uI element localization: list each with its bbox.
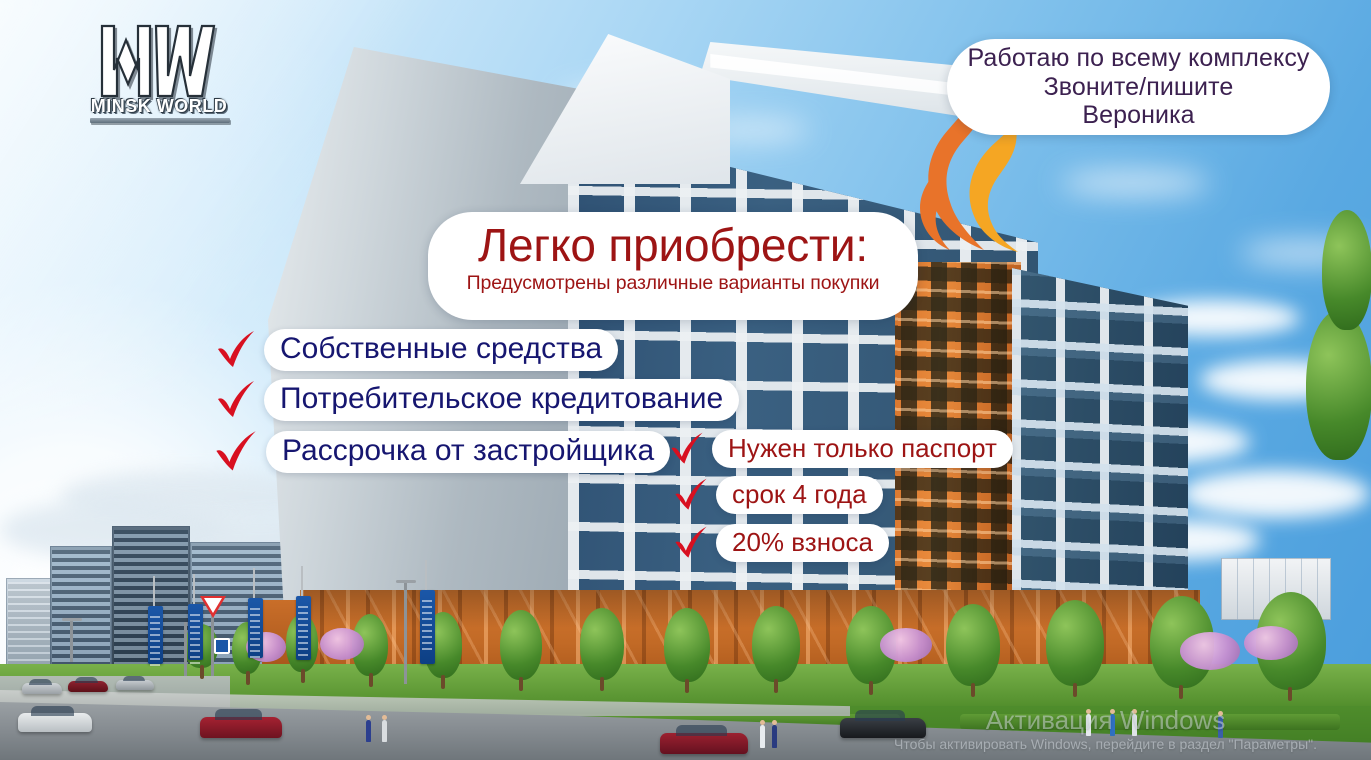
pedestrian (366, 720, 371, 742)
contact-bubble[interactable]: Работаю по всему комплексу Звоните/пишит… (947, 39, 1330, 135)
installment-term-label: срок 4 года (716, 476, 883, 514)
installment-term-label: Нужен только паспорт (712, 430, 1013, 468)
car (22, 683, 62, 694)
minsk-world-logo: MINSK WORLD (92, 18, 220, 118)
car (200, 717, 282, 738)
pedestrian (1218, 716, 1223, 738)
cloud (1180, 470, 1370, 518)
car (68, 681, 108, 692)
tree (580, 608, 624, 680)
logo-wordmark: MINSK WORLD (86, 96, 232, 117)
contact-line-3: Вероника (967, 101, 1309, 130)
check-icon (214, 378, 258, 422)
hedge (960, 714, 1340, 730)
car (116, 680, 154, 690)
logo-underline (90, 118, 230, 123)
installment-term-row[interactable]: Нужен только паспорт (668, 430, 1013, 468)
street-banner (420, 590, 435, 664)
tree (752, 606, 800, 682)
blossom-tree (1244, 626, 1298, 660)
tree (946, 604, 1000, 686)
check-icon (668, 430, 706, 468)
payment-option-label: Собственные средства (264, 329, 618, 372)
pedestrian (772, 725, 777, 748)
car (840, 718, 926, 738)
contact-line-1: Работаю по всему комплексу (967, 44, 1309, 73)
check-icon (214, 328, 258, 372)
check-icon (672, 476, 710, 514)
payment-option-row[interactable]: Рассрочка от застройщика (212, 428, 670, 476)
contact-line-2: Звоните/пишите (967, 73, 1309, 102)
tree (1322, 210, 1371, 330)
headline-bubble: Легко приобрести: Предусмотрены различны… (428, 212, 918, 320)
pedestrian (760, 725, 765, 748)
street-banner (148, 606, 163, 664)
street-banner (296, 596, 311, 660)
pedestrian (1086, 714, 1091, 736)
sign-post (184, 622, 187, 676)
tree (1046, 600, 1104, 686)
pedestrian (382, 720, 387, 742)
tree (1306, 310, 1371, 460)
payment-option-label: Потребительское кредитование (264, 379, 739, 422)
blossom-tree (880, 628, 932, 662)
payment-option-label: Рассрочка от застройщика (266, 431, 670, 474)
car (660, 733, 748, 754)
payment-option-row[interactable]: Собственные средства (214, 328, 618, 372)
pedestrian (1110, 714, 1115, 736)
street-lamp (404, 580, 407, 684)
headline-subtitle: Предусмотрены различные варианты покупки (454, 272, 892, 295)
check-icon (672, 524, 710, 562)
blossom-tree (320, 628, 364, 660)
yield-sign (200, 596, 226, 618)
pedestrian (1132, 714, 1137, 736)
promo-image: MINSK WORLD Работаю по всему комплексу З… (0, 0, 1371, 760)
pedestrian-crossing-sign (214, 638, 230, 654)
headline-title: Легко приобрести: (454, 222, 892, 269)
installment-term-label: 20% взноса (716, 524, 889, 562)
payment-option-row[interactable]: Потребительское кредитование (214, 378, 739, 422)
cloud (1060, 170, 1210, 196)
check-icon (212, 428, 260, 476)
street-banner (248, 598, 263, 658)
tree (500, 610, 542, 680)
car (18, 713, 92, 732)
tree (664, 608, 710, 682)
street-lamp (70, 618, 73, 662)
installment-term-row[interactable]: 20% взноса (672, 524, 889, 562)
contact-text: Работаю по всему комплексу Звоните/пишит… (967, 44, 1309, 130)
blossom-tree (1180, 632, 1240, 670)
installment-term-row[interactable]: срок 4 года (672, 476, 883, 514)
mw-monogram-icon (92, 18, 220, 104)
